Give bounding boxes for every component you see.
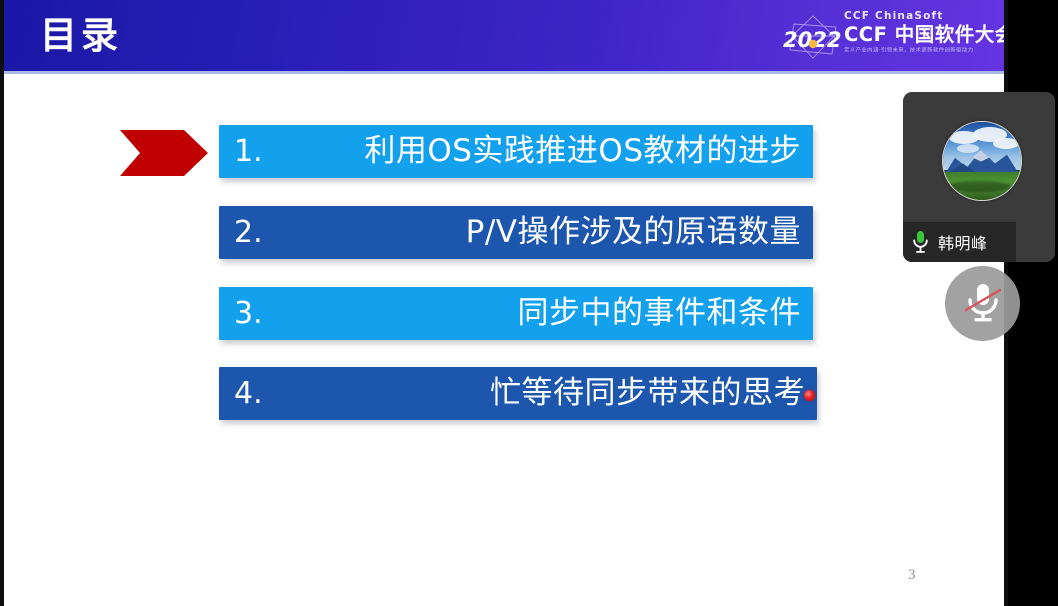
agenda-item-2-number: 2. [234,212,263,253]
agenda-item-4[interactable]: 4. 忙等待同步带来的思考 [219,367,817,420]
avatar [942,121,1022,201]
ccf-logo-text: CCF ChinaSoft CCF 中国软件大会 定义产业内涵·引领未来，技术更… [844,10,994,55]
agenda-item-4-number: 4. [234,373,263,414]
page-title: 目录 [40,13,122,59]
ccf-2022-mark-icon: 2022 [782,14,844,60]
mute-toggle-button[interactable] [945,266,1020,341]
slide-page-number: 3 [908,566,916,584]
participant-name-bar: 韩明峰 [903,222,1016,262]
ccf-logo-line-sub: 定义产业内涵·引领未来，技术更新软件创新驱动力 [844,47,994,54]
avatar-grass-shadow [947,181,1011,192]
agenda-item-1[interactable]: 1. 利用OS实践推进OS教材的进步 [219,125,813,178]
microphone-muted-icon [963,281,1003,325]
slide-canvas: 目录 2022 CCF ChinaSoft CCF 中国软件大会 定义产业内涵·… [0,0,1008,606]
participant-name: 韩明峰 [938,230,988,254]
agenda-item-2[interactable]: 2. P/V操作涉及的原语数量 [219,206,813,259]
slide-left-border [0,0,4,606]
agenda-item-3-label: 同步中的事件和条件 [518,291,802,335]
microphone-icon [912,230,929,254]
agenda-item-2-label: P/V操作涉及的原语数量 [466,210,801,254]
agenda-item-1-label: 利用OS实践推进OS教材的进步 [364,129,801,173]
agenda-item-4-label: 忙等待同步带来的思考 [490,371,805,415]
laser-pointer-dot [804,390,815,401]
red-arrow-marker-icon [120,130,208,176]
ccf-logo-line-top: CCF ChinaSoft [844,10,994,23]
agenda-item-3-number: 3. [234,293,263,334]
ccf-logo-line-main: CCF 中国软件大会 [844,23,994,47]
slide-header-underline [4,71,1004,74]
presentation-stage: 目录 2022 CCF ChinaSoft CCF 中国软件大会 定义产业内涵·… [0,0,1058,606]
agenda-item-3[interactable]: 3. 同步中的事件和条件 [219,287,813,340]
ccf-conference-logo: 2022 CCF ChinaSoft CCF 中国软件大会 定义产业内涵·引领未… [782,6,998,66]
participant-video-tile[interactable]: 韩明峰 [903,92,1055,262]
agenda-item-1-number: 1. [234,131,263,172]
